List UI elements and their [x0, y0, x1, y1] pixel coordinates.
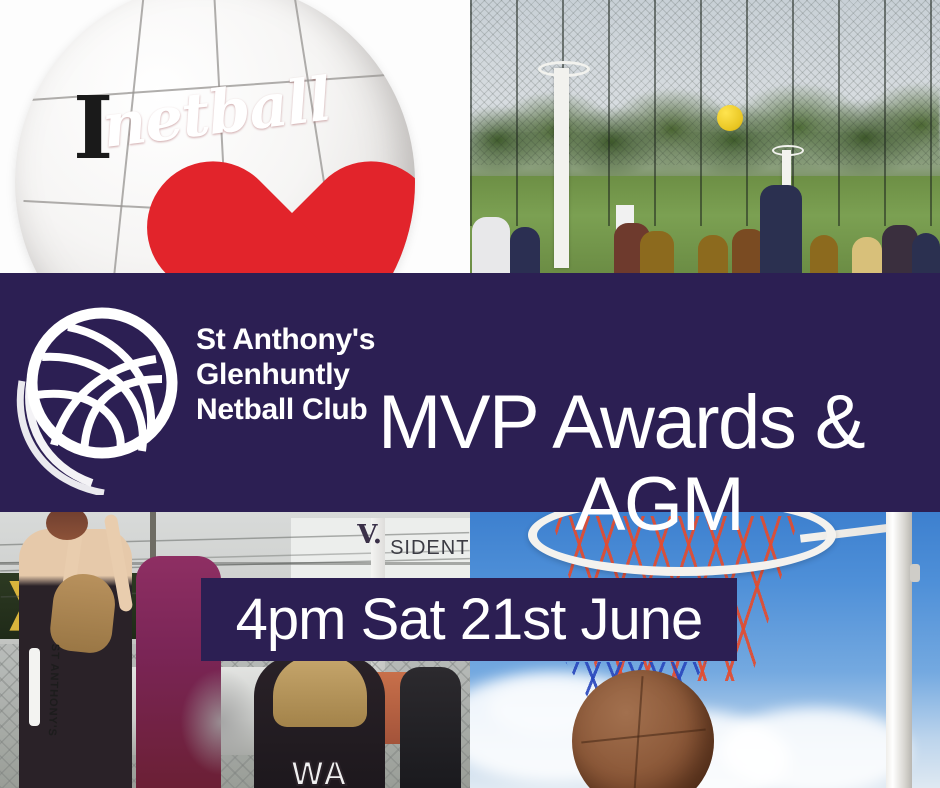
event-poster: I netball V. — [0, 0, 940, 788]
goal-post-near — [554, 68, 569, 268]
goal-ring-icon — [538, 61, 590, 77]
ball-i-letter: I — [73, 86, 113, 172]
player-figure — [810, 235, 838, 275]
player-figure — [912, 233, 940, 275]
motion-blur-splash — [179, 667, 264, 777]
player-bib — [29, 648, 40, 726]
heart-icon — [101, 74, 351, 275]
event-title-line-1: MVP Awards & — [378, 380, 864, 465]
ball-body: I netball — [15, 0, 415, 275]
ball-seam — [633, 676, 644, 788]
netball-swirl-logo-icon — [10, 295, 190, 495]
netball-in-flight-icon — [717, 105, 743, 131]
photo-top-right — [470, 0, 940, 275]
goal-ring-icon — [772, 145, 804, 156]
event-title-line-2: AGM — [378, 464, 940, 546]
player-figure — [472, 217, 510, 275]
fence-mesh — [470, 0, 940, 165]
netball-ball-icon: I netball — [15, 0, 415, 275]
player-figure — [640, 231, 674, 275]
player-figure — [852, 237, 882, 275]
player-bib-text: WA — [291, 755, 366, 788]
player-figure — [510, 227, 540, 275]
date-badge: 4pm Sat 21st June — [201, 578, 737, 661]
ball-seam — [581, 729, 705, 744]
date-text: 4pm Sat 21st June — [236, 591, 703, 649]
spectator-figure — [400, 667, 461, 788]
player-shooting-figure — [760, 185, 802, 275]
photo-top-left: I netball — [0, 0, 470, 275]
player-figure — [698, 235, 728, 275]
cloud — [720, 708, 910, 788]
player-foreground-hair — [273, 656, 367, 728]
club-name: St Anthony's Glenhuntly Netball Club — [196, 322, 375, 427]
